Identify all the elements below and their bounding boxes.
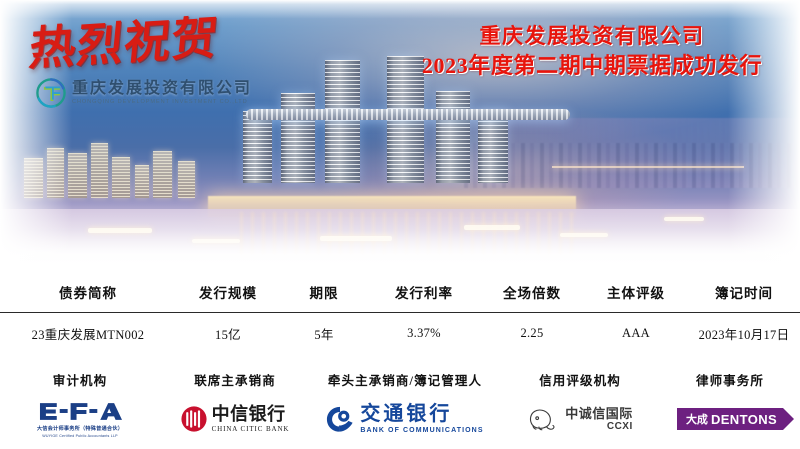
table-row: 23重庆发展MTN002 15亿 5年 3.37% 2.25 AAA 2023年…	[0, 313, 800, 344]
partner-label-credit-rating-agency: 信用评级机构	[539, 370, 621, 389]
partner-dentons: 律师事务所 大成 DENTONS	[660, 370, 800, 440]
cell-issuer-rating: AAA	[584, 313, 688, 344]
cell-bookbuilding-date: 2023年10月17日	[688, 313, 800, 344]
col-bookbuilding-date: 簿记时间	[688, 282, 800, 313]
raffles-city-towers	[232, 78, 584, 207]
residential-towers-left	[16, 134, 224, 198]
partner-label-lead-underwriter-bookrunner: 牵头主承销商/簿记管理人	[328, 370, 482, 389]
ccxi-logo: 中诚信国际 CCXI	[527, 398, 633, 440]
congratulation-calligraphy: 热烈祝贺	[26, 6, 219, 83]
col-coupon-rate: 发行利率	[368, 282, 480, 313]
partner-bank-of-communications: 牵头主承销商/簿记管理人 交通银行 BANK OF COMMUNICATIONS	[310, 370, 500, 440]
table-header-row: 债券简称 发行规模 期限 发行利率 全场倍数 主体评级 簿记时间	[0, 282, 800, 313]
headline-line-2: 2023年度第二期中期票据成功发行	[396, 51, 788, 81]
chongqing-skyline-photo: 热烈祝贺 重庆发展投资有限公司 CHONGQING DEVELOPMENT IN…	[0, 0, 800, 268]
bocom-name-cn: 交通银行	[360, 404, 483, 424]
cell-coupon-rate: 3.37%	[368, 313, 480, 344]
bocom-logo: 交通银行 BANK OF COMMUNICATIONS	[326, 398, 483, 440]
bocom-emblem-icon	[326, 405, 354, 433]
cell-bond-name: 23重庆发展MTN002	[0, 313, 176, 344]
partner-label-auditor: 审计机构	[53, 370, 107, 389]
page-title: 重庆发展投资有限公司 2023年度第二期中期票据成功发行	[396, 22, 788, 81]
partner-citic-bank: 联席主承销商 中信银行 CHINA CITIC BANK	[160, 370, 310, 440]
ccxi-name-cn: 中诚信国际	[565, 407, 633, 420]
citic-name-en: CHINA CITIC BANK	[212, 426, 290, 433]
col-subscription-multiple: 全场倍数	[480, 282, 584, 313]
bond-details-table: 债券简称 发行规模 期限 发行利率 全场倍数 主体评级 簿记时间 23重庆发展M…	[0, 282, 800, 343]
company-logo-lockup: 重庆发展投资有限公司 CHONGQING DEVELOPMENT INVESTM…	[36, 78, 252, 108]
dentons-logo: 大成 DENTONS	[677, 398, 783, 440]
citic-name-cn: 中信银行	[212, 405, 290, 423]
partner-institutions: 审计机构 大信会计师事务所（特殊普通合伙） WUYIGE Certified P…	[0, 370, 800, 440]
partner-ccxi: 信用评级机构 中诚信国际 CCXI	[500, 370, 660, 440]
ccxi-elephant-icon	[527, 405, 561, 433]
col-issue-size: 发行规模	[176, 282, 280, 313]
cell-issue-size: 15亿	[176, 313, 280, 344]
cell-subscription-multiple: 2.25	[480, 313, 584, 344]
water-reflections	[240, 212, 576, 255]
crystal-skybridge	[246, 109, 570, 121]
announcement-poster: 热烈祝贺 重庆发展投资有限公司 CHONGQING DEVELOPMENT IN…	[0, 0, 800, 449]
auditor-name-cn: 大信会计师事务所（特殊普通合伙）	[37, 425, 123, 432]
company-emblem-icon	[36, 78, 66, 108]
partner-label-joint-lead-underwriter: 联席主承销商	[194, 370, 276, 389]
col-bond-name: 债券简称	[0, 282, 176, 313]
dentons-name-cn: 大成	[686, 411, 708, 427]
company-name-en: CHONGQING DEVELOPMENT INVESTMENT CO.,LTD	[72, 100, 252, 106]
col-issuer-rating: 主体评级	[584, 282, 688, 313]
partner-label-law-firm: 律师事务所	[696, 370, 764, 389]
cell-tenor: 5年	[280, 313, 368, 344]
headline-line-1: 重庆发展投资有限公司	[396, 22, 788, 51]
partner-auditor: 审计机构 大信会计师事务所（特殊普通合伙） WUYIGE Certified P…	[0, 370, 160, 440]
citic-bank-logo: 中信银行 CHINA CITIC BANK	[181, 398, 290, 440]
dentons-name-en: DENTONS	[711, 412, 777, 427]
citic-emblem-icon	[181, 406, 207, 432]
ccxi-name-en: CCXI	[565, 422, 633, 432]
auditor-name-en: WUYIGE Certified Public Accountants LLP	[42, 434, 118, 438]
wuyige-efa-icon	[38, 400, 122, 422]
auditor-logo: 大信会计师事务所（特殊普通合伙） WUYIGE Certified Public…	[37, 398, 123, 440]
bocom-name-en: BANK OF COMMUNICATIONS	[360, 427, 483, 434]
company-name-cn: 重庆发展投资有限公司	[72, 81, 252, 97]
col-tenor: 期限	[280, 282, 368, 313]
